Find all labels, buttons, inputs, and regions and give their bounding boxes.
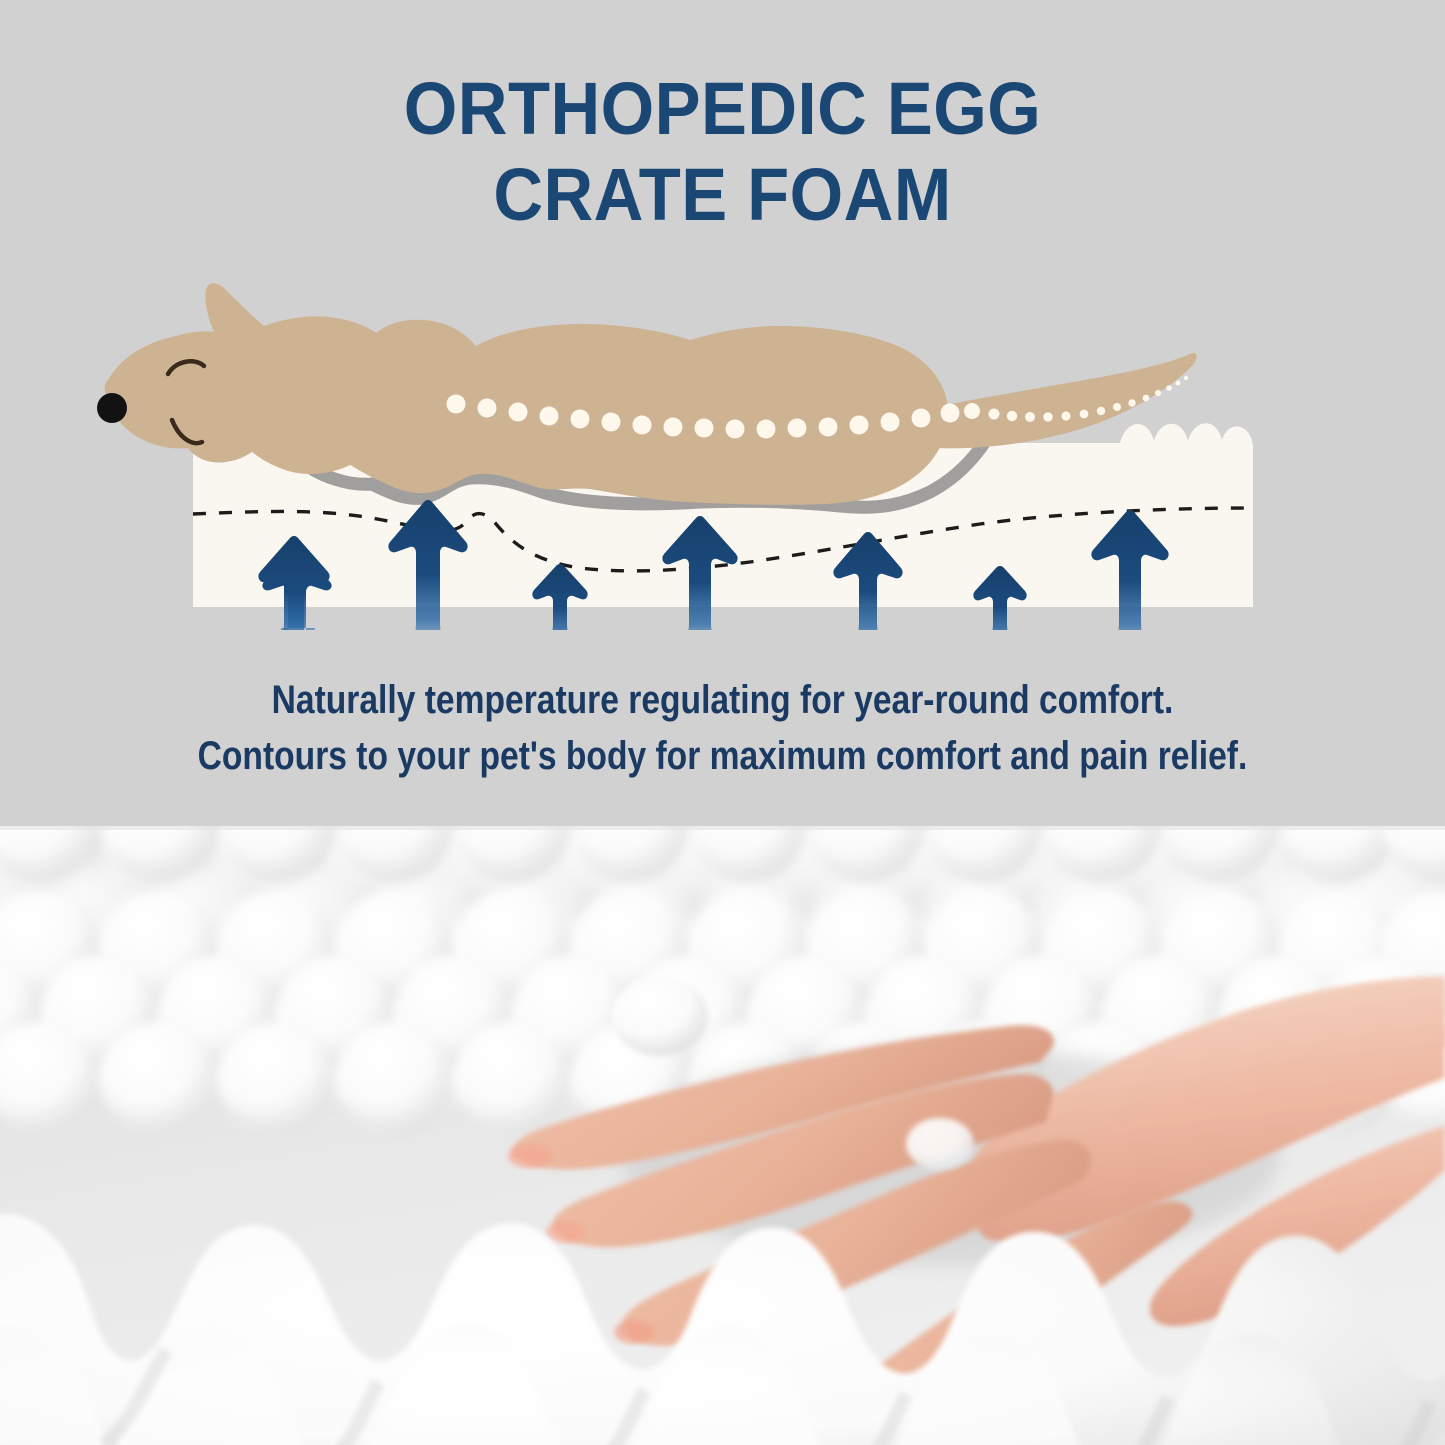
page-title: ORTHOPEDIC EGG CRATE FOAM (51, 66, 1395, 238)
benefit-description: Naturally temperature regulating for yea… (116, 672, 1330, 784)
top-info-panel: ORTHOPEDIC EGG CRATE FOAM (0, 0, 1445, 826)
dog-tail (930, 353, 1197, 448)
fingernail (546, 1221, 586, 1243)
dog-foam-illustration (0, 280, 1445, 630)
fingernail (614, 1320, 654, 1344)
hand-pressing-foam-photo (0, 826, 1445, 1445)
fingernail (508, 1144, 552, 1168)
dog-head (105, 283, 404, 474)
dog-body (316, 320, 948, 505)
dog-nose (97, 393, 127, 423)
product-infographic: ORTHOPEDIC EGG CRATE FOAM (0, 0, 1445, 1445)
